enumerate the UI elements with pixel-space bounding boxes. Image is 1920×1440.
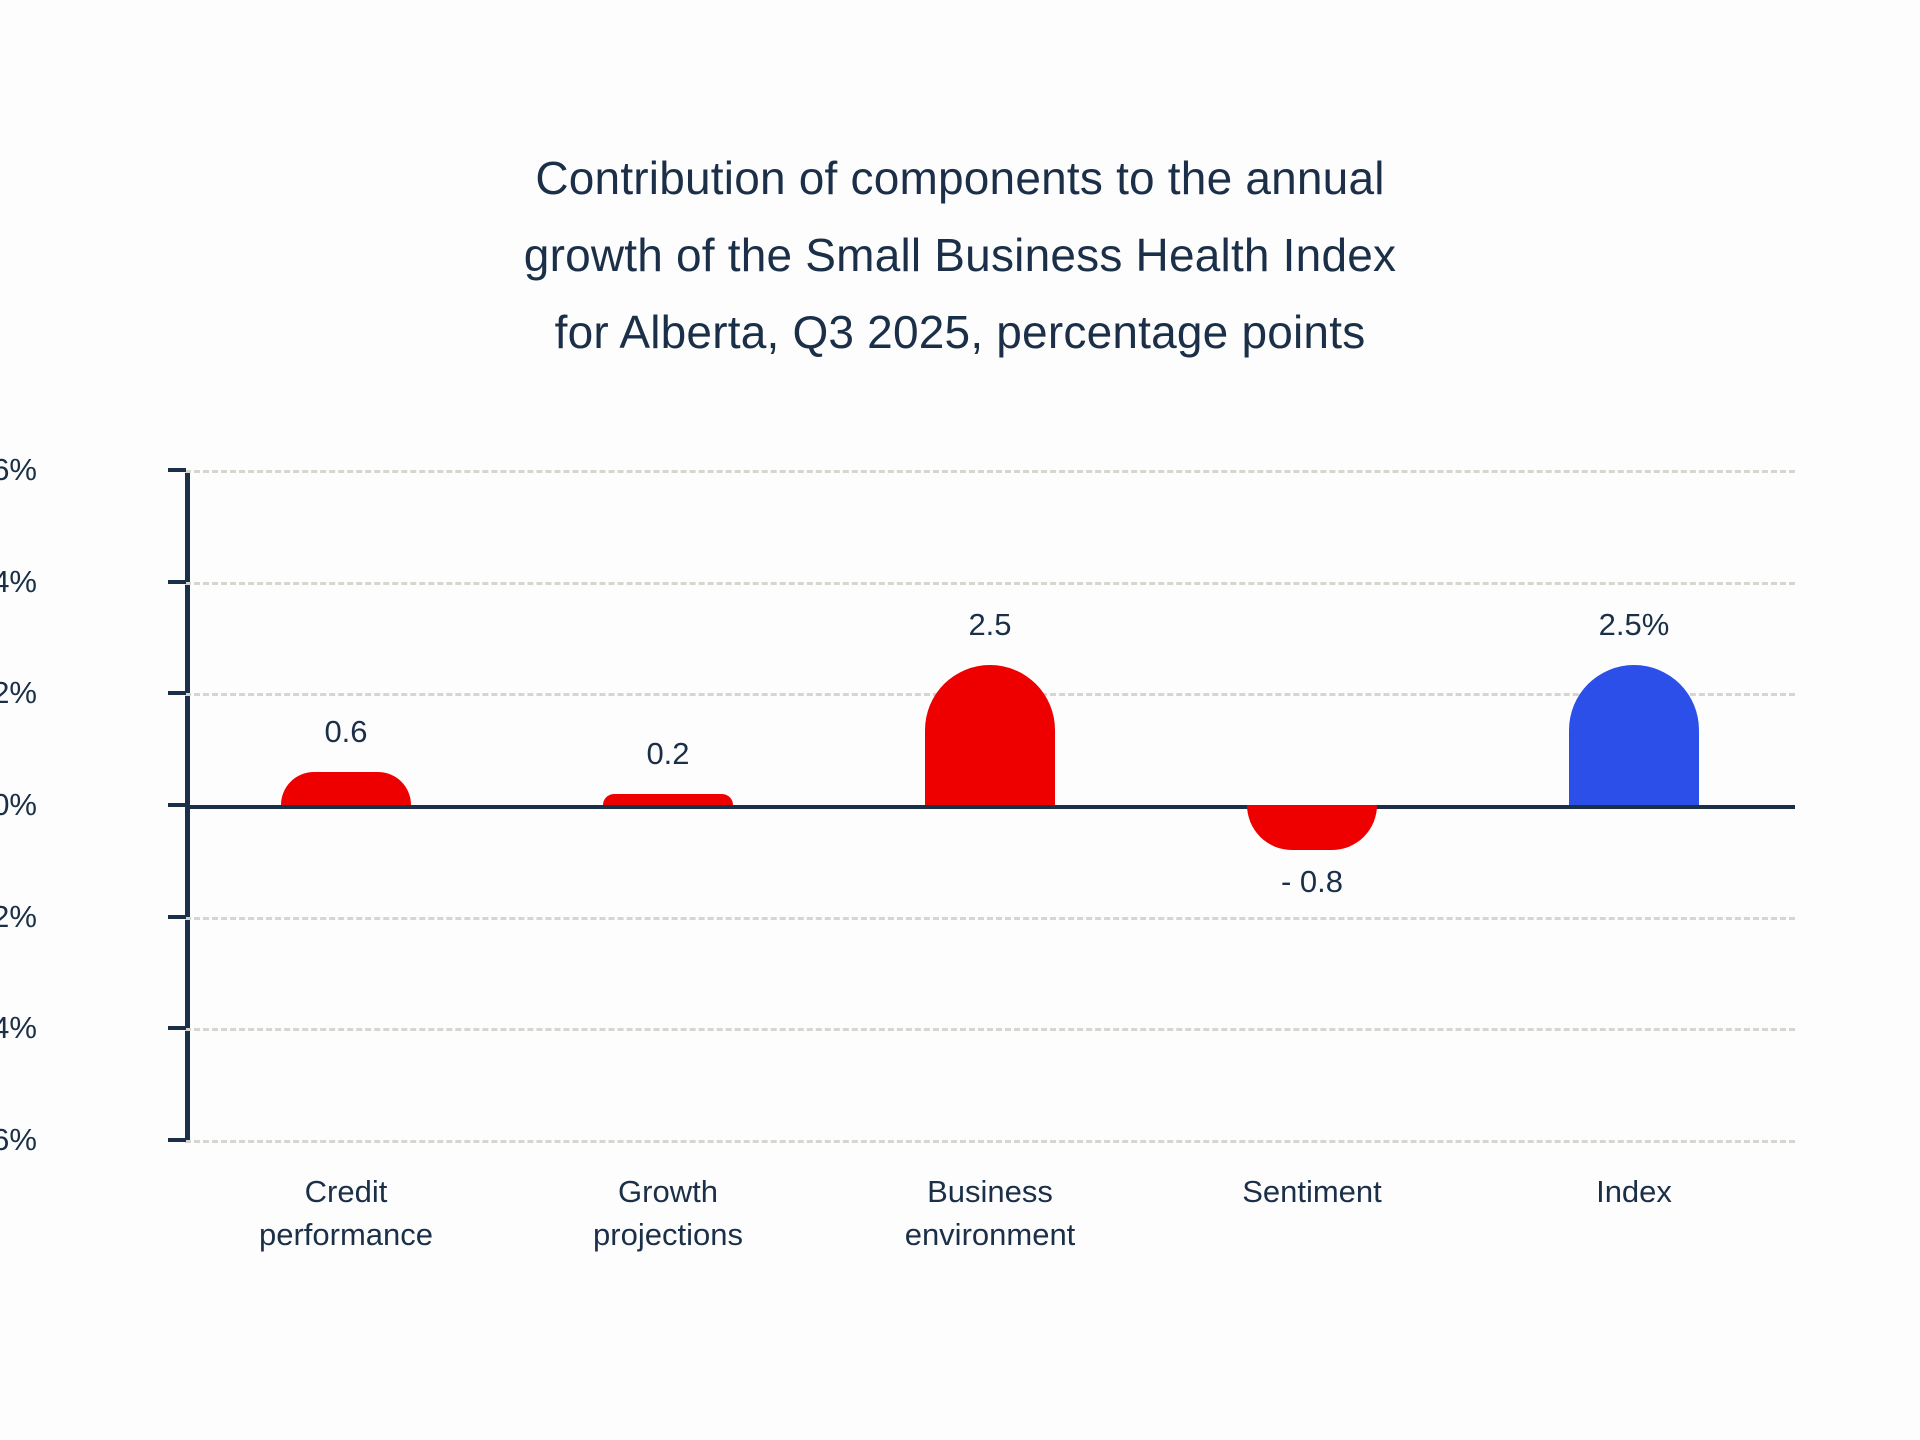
- x-axis-label-line: Sentiment: [1162, 1170, 1462, 1213]
- bar-business-environment[interactable]: [925, 665, 1055, 805]
- x-axis-label-line: Business: [840, 1170, 1140, 1213]
- y-tick-mark: [168, 1138, 186, 1142]
- chart-figure: Contribution of components to the annual…: [0, 0, 1920, 1440]
- y-tick-mark: [168, 915, 186, 919]
- y-tick-label: 0%: [0, 787, 37, 823]
- y-tick-mark: [168, 468, 186, 472]
- chart-title-line-3: for Alberta, Q3 2025, percentage points: [160, 294, 1760, 371]
- x-axis-label-line: environment: [840, 1213, 1140, 1256]
- gridline: [185, 582, 1795, 585]
- bar-value-label: 2.5%: [1504, 607, 1764, 643]
- bar-value-label: - 0.8: [1182, 864, 1442, 900]
- x-axis-label-credit-performance: Creditperformance: [196, 1170, 496, 1256]
- x-axis-label-line: performance: [196, 1213, 496, 1256]
- y-tick-mark: [168, 1026, 186, 1030]
- chart-title-line-2: growth of the Small Business Health Inde…: [160, 217, 1760, 294]
- gridline: [185, 470, 1795, 473]
- bar-value-label: 2.5: [860, 607, 1120, 643]
- x-axis-label-line: Index: [1484, 1170, 1784, 1213]
- y-tick-mark: [168, 580, 186, 584]
- y-tick-label: -4%: [0, 1010, 37, 1046]
- bar-growth-projections[interactable]: [603, 794, 733, 805]
- bar-sentiment[interactable]: [1247, 805, 1377, 850]
- y-tick-label: 6%: [0, 452, 37, 488]
- bar-credit-performance[interactable]: [281, 772, 411, 806]
- y-tick-label: -6%: [0, 1122, 37, 1158]
- zero-baseline: [185, 805, 1795, 809]
- y-tick-label: 2%: [0, 675, 37, 711]
- gridline: [185, 1028, 1795, 1031]
- x-axis-label-business-environment: Businessenvironment: [840, 1170, 1140, 1256]
- y-tick-label: 4%: [0, 564, 37, 600]
- gridline: [185, 917, 1795, 920]
- y-tick-mark: [168, 803, 186, 807]
- y-tick-mark: [168, 691, 186, 695]
- x-axis-label-sentiment: Sentiment: [1162, 1170, 1462, 1213]
- x-axis-label-line: Growth: [518, 1170, 818, 1213]
- x-axis-label-growth-projections: Growthprojections: [518, 1170, 818, 1256]
- gridline: [185, 1140, 1795, 1143]
- y-tick-label: -2%: [0, 899, 37, 935]
- chart-title-line-1: Contribution of components to the annual: [160, 140, 1760, 217]
- x-axis-label-line: Credit: [196, 1170, 496, 1213]
- chart-title: Contribution of components to the annual…: [160, 140, 1760, 371]
- x-axis-label-index: Index: [1484, 1170, 1784, 1213]
- x-axis-label-line: projections: [518, 1213, 818, 1256]
- bar-index[interactable]: [1569, 665, 1699, 805]
- plot-area: 6%4%2%0%-2%-4%-6% 0.60.22.5- 0.82.5%: [185, 470, 1795, 1140]
- bar-value-label: 0.2: [538, 736, 798, 772]
- bar-value-label: 0.6: [216, 714, 476, 750]
